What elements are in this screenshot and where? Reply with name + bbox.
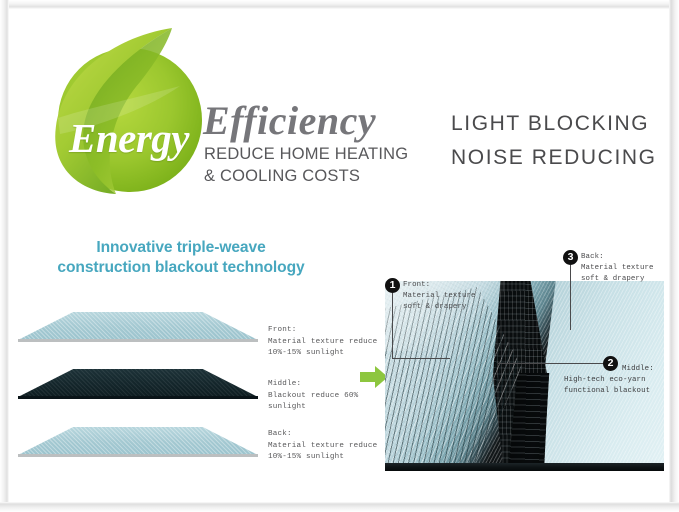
logo-wordmark: Energy [54,114,204,162]
layer-caption-middle-line2: sunlight [268,402,358,414]
callout-2-text: High-tech eco-yarn functional blackout [564,375,650,397]
callout-3-title: Back: [581,252,654,263]
callout-3-leader-vertical [570,265,571,330]
layer-stack-diagram [18,312,258,477]
layer-caption-front-line1: Material texture reduce [268,337,377,349]
layer-caption-front-title: Front: [268,325,377,337]
layer-caption-front-line2: 10%-15% sunlight [268,348,377,360]
feature-light-blocking: LIGHT BLOCKING [451,112,649,136]
layer-caption-back-line1: Material texture reduce [268,441,377,453]
infographic-canvas: Energy Efficiency REDUCE HOME HEATING & … [0,0,679,512]
frame-top-edge [0,0,679,9]
callout-2-title-text: Middle: [622,364,654,375]
callout-2-badge: 2 [603,356,618,371]
frame-right-edge [669,0,679,512]
photo-bottom-edge [385,463,664,471]
energy-leaf-logo: Energy [44,22,212,200]
callout-3-badge: 3 [563,250,578,265]
callout-2-line2: functional blackout [564,386,650,397]
layer-middle-edge [18,396,258,399]
layer-caption-middle-line1: Blackout reduce 60% [268,391,358,403]
layer-front-edge [18,339,258,342]
green-arrow-icon [360,366,388,388]
layer-caption-back-title: Back: [268,429,377,441]
headline-subtitle-line2: & COOLING COSTS [204,167,360,186]
callout-3-line1: Material texture [581,263,654,274]
layer-caption-back: Back: Material texture reduce 10%-15% su… [268,429,377,464]
layer-caption-middle-title: Middle: [268,379,358,391]
layer-back-edge [18,454,258,457]
callout-1-leader-horizontal [392,358,450,359]
layer-caption-front: Front: Material texture reduce 10%-15% s… [268,325,377,360]
callout-3-line2: soft & drapery [581,274,654,285]
callout-1-line2: soft & drapery [403,302,476,313]
layer-middle-surface [18,369,258,397]
feature-noise-reducing: NOISE REDUCING [451,146,657,170]
callout-1-text: Front: Material texture soft & drapery [403,280,476,313]
callout-1-line1: Material texture [403,291,476,302]
headline-subtitle-line1: REDUCE HOME HEATING [204,145,408,164]
layer-front [18,312,258,346]
callout-1-leader-vertical [392,293,393,359]
callout-2-title: Middle: [622,364,654,375]
layer-caption-middle: Middle: Blackout reduce 60% sunlight [268,379,358,414]
frame-bottom-edge [0,502,679,512]
callout-3-text: Back: Material texture soft & drapery [581,252,654,285]
section-heading: Innovative triple-weave construction bla… [16,238,346,278]
callout-1-badge: 1 [385,278,400,293]
headline-title: Efficiency [203,97,376,144]
frame-left-edge [0,0,9,512]
section-heading-line2: construction blackout technology [57,259,304,276]
layer-middle [18,369,258,403]
layer-caption-back-line2: 10%-15% sunlight [268,452,377,464]
leaf-icon [44,22,212,200]
layer-back [18,427,258,461]
callout-2-line1: High-tech eco-yarn [564,375,650,386]
layer-back-surface [18,427,258,455]
callout-2-leader-horizontal [498,363,604,364]
callout-1-title: Front: [403,280,476,291]
layer-front-surface [18,312,258,340]
section-heading-line1: Innovative triple-weave [96,239,265,256]
